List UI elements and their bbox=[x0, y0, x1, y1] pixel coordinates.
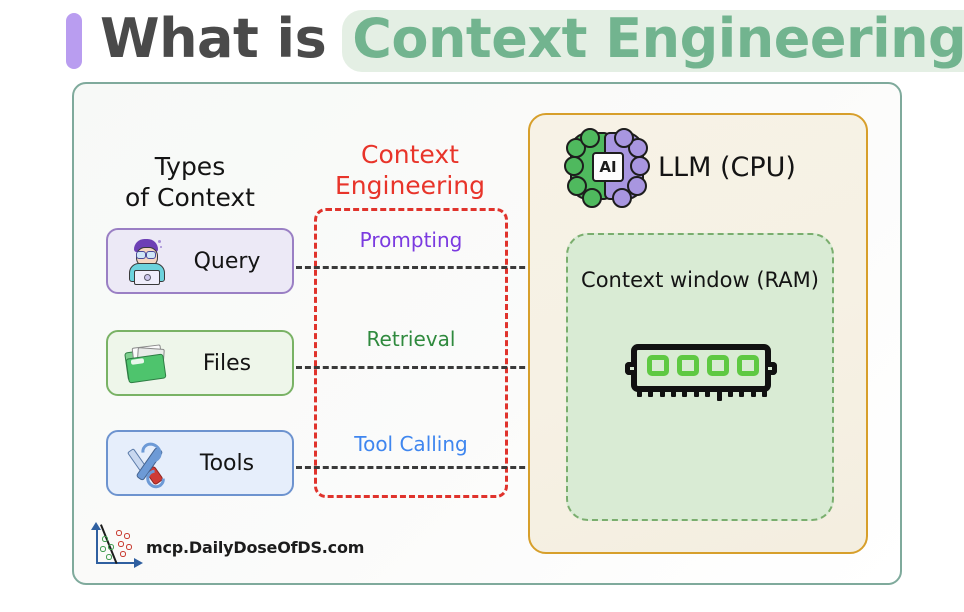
context-type-tools-label: Tools bbox=[176, 451, 292, 476]
title-accent-bar bbox=[66, 13, 82, 69]
diagram-canvas: What is Context Engineering? Types of Co… bbox=[0, 0, 964, 612]
types-of-context-heading: Types of Context bbox=[95, 152, 285, 213]
scatter-plot-logo bbox=[86, 522, 142, 570]
title-text: What is Context Engineering? bbox=[100, 10, 964, 72]
footer-link-text[interactable]: mcp.DailyDoseOfDS.com bbox=[146, 538, 364, 557]
context-type-files[interactable]: Files bbox=[106, 330, 294, 396]
folder-icon bbox=[114, 337, 176, 389]
title-highlight: Context Engineering? bbox=[342, 10, 964, 72]
ce-heading-line1: Context bbox=[315, 140, 505, 171]
page-title: What is Context Engineering? bbox=[66, 4, 926, 78]
wrench-screwdriver-icon bbox=[114, 437, 176, 489]
method-label-tool-calling: Tool Calling bbox=[311, 432, 511, 456]
context-type-files-label: Files bbox=[176, 351, 292, 376]
llm-panel-title: LLM (CPU) bbox=[658, 152, 796, 183]
ce-heading-line2: Engineering bbox=[315, 171, 505, 202]
arrow-files-to-context-window bbox=[296, 366, 558, 369]
ram-stick-icon bbox=[625, 344, 777, 406]
types-heading-line1: Types bbox=[95, 152, 285, 183]
ai-chip-label: AI bbox=[592, 152, 624, 182]
context-engineering-heading: Context Engineering bbox=[315, 140, 505, 201]
context-type-query-label: Query bbox=[176, 249, 292, 274]
arrow-tools-to-context-window bbox=[296, 466, 558, 469]
context-type-query[interactable]: Query bbox=[106, 228, 294, 294]
title-prefix: What is bbox=[100, 12, 326, 66]
arrow-query-to-context-window bbox=[296, 266, 558, 269]
context-window-label: Context window (RAM) bbox=[566, 268, 834, 292]
person-laptop-icon bbox=[114, 235, 176, 287]
context-type-tools[interactable]: Tools bbox=[106, 430, 294, 496]
types-heading-line2: of Context bbox=[95, 183, 285, 214]
method-label-retrieval: Retrieval bbox=[311, 327, 511, 351]
method-label-prompting: Prompting bbox=[311, 228, 511, 252]
ai-brain-icon: AI bbox=[568, 130, 646, 200]
